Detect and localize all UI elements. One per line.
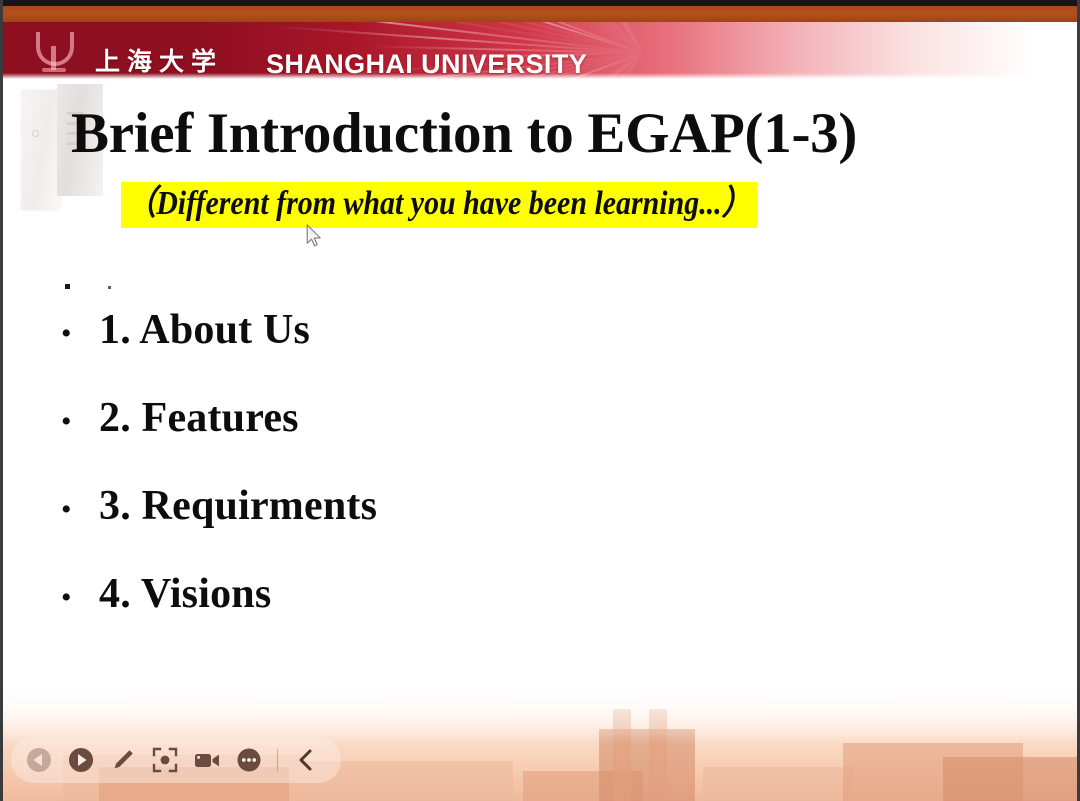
slide-subtitle: （Different from what you have been learn… — [121, 182, 757, 228]
shanghai-university-emblem-icon — [33, 30, 77, 74]
screenshot-button[interactable] — [145, 740, 185, 780]
list-item-label: 3. Requirments — [99, 482, 377, 530]
list-item: •1. About Us — [61, 306, 961, 394]
list-item-label: 2. Features — [99, 394, 299, 442]
list-item: •4. Visions — [61, 570, 961, 658]
record-button[interactable] — [187, 740, 227, 780]
banner-bottom-fade — [3, 73, 1077, 80]
list-item-label: 1. About Us — [99, 306, 310, 354]
empty-bullet-marks — [65, 281, 185, 295]
annotate-button[interactable] — [103, 740, 143, 780]
slide-subtitle-wrapper: （Different from what you have been learn… — [121, 182, 844, 228]
list-item-label: 4. Visions — [99, 570, 271, 618]
bullet-dot-icon: • — [61, 495, 99, 525]
toolbar-divider — [277, 749, 278, 771]
banner-chinese-name: 上海大学 — [95, 49, 223, 74]
slide-title: Brief Introduction to EGAP(1-3) — [71, 104, 857, 164]
collapse-button[interactable] — [286, 740, 326, 780]
media-player-toolbar[interactable] — [11, 737, 341, 783]
presentation-slide: 上海大学 SHANGHAI UNIVERSITY Brief Introduct… — [0, 0, 1080, 801]
agenda-list: •1. About Us•2. Features•3. Requirments•… — [61, 306, 961, 658]
bullet-dot-icon: • — [61, 319, 99, 349]
university-banner: 上海大学 SHANGHAI UNIVERSITY — [3, 22, 1077, 80]
list-item: •3. Requirments — [61, 482, 961, 570]
list-item: •2. Features — [61, 394, 961, 482]
mouse-cursor — [306, 224, 323, 254]
previous-button[interactable] — [19, 740, 59, 780]
orange-accent-band — [3, 6, 1077, 22]
more-button[interactable] — [229, 740, 269, 780]
bullet-dot-icon: • — [61, 407, 99, 437]
bullet-dot-icon: • — [61, 583, 99, 613]
play-button[interactable] — [61, 740, 101, 780]
